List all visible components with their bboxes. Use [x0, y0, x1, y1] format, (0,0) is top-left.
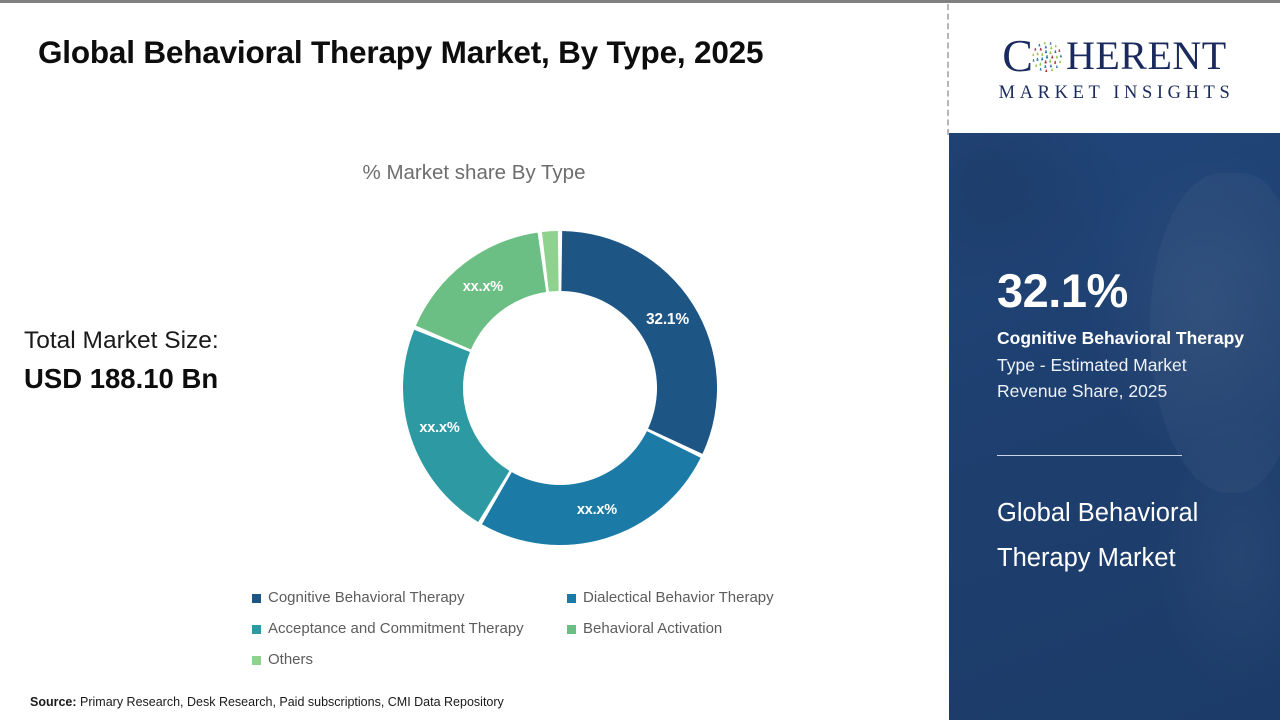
highlight-panel: 32.1% Cognitive Behavioral Therapy Type … [949, 133, 1280, 720]
panel-divider [997, 455, 1182, 456]
logo-tagline: MARKET INSIGHTS [995, 83, 1235, 104]
legend-label: Dialectical Behavior Therapy [583, 589, 774, 606]
legend-item[interactable]: Others [252, 651, 313, 668]
total-market-size-label: Total Market Size: [24, 327, 219, 355]
legend-item[interactable]: Behavioral Activation [567, 620, 722, 637]
legend-label: Acceptance and Commitment Therapy [268, 620, 524, 637]
chart-panel: Global Behavioral Therapy Market, By Typ… [0, 3, 948, 720]
donut-slice-label: 32.1% [646, 311, 689, 329]
legend-row: Cognitive Behavioral TherapyDialectical … [252, 589, 832, 611]
total-market-size-value: USD 188.10 Bn [24, 363, 218, 395]
source-note: Source: Primary Research, Desk Research,… [30, 695, 504, 709]
legend-label: Cognitive Behavioral Therapy [268, 589, 465, 606]
logo-wordmark: C HERENT [1002, 32, 1226, 80]
legend-item[interactable]: Acceptance and Commitment Therapy [252, 620, 567, 637]
chart-subtitle: % Market share By Type [0, 161, 948, 185]
page-title: Global Behavioral Therapy Market, By Typ… [38, 34, 928, 70]
legend-item[interactable]: Dialectical Behavior Therapy [567, 589, 774, 606]
legend-row: Acceptance and Commitment TherapyBehavio… [252, 620, 832, 642]
donut-slice-label: xx.x% [419, 420, 459, 436]
source-label: Source: [30, 695, 77, 709]
chart-legend: Cognitive Behavioral TherapyDialectical … [252, 589, 832, 682]
legend-label: Others [268, 651, 313, 668]
donut-slices [403, 231, 717, 545]
stat-percentage: 32.1% [997, 267, 1128, 314]
donut-slice-label: xx.x% [531, 218, 571, 234]
donut-slice-label: xx.x% [577, 502, 617, 518]
legend-row: Others [252, 651, 832, 673]
globe-people-icon [1030, 40, 1064, 74]
stat-description-segment: Cognitive Behavioral Therapy [997, 328, 1244, 348]
donut-slice [482, 431, 701, 545]
infographic-canvas: Global Behavioral Therapy Market, By Typ… [0, 0, 1280, 720]
donut-slice [561, 231, 717, 454]
legend-swatch-icon [567, 625, 576, 634]
legend-swatch-icon [252, 625, 261, 634]
legend-swatch-icon [252, 656, 261, 665]
legend-swatch-icon [567, 594, 576, 603]
legend-label: Behavioral Activation [583, 620, 722, 637]
donut-chart-svg [403, 231, 717, 545]
chart-subtitle-text: % Market share By Type [363, 161, 586, 185]
panel-market-heading: Global Behavioral Therapy Market [997, 491, 1247, 582]
donut-slice-label: xx.x% [463, 279, 503, 295]
panel-background-art [949, 133, 1280, 720]
stat-description: Cognitive Behavioral Therapy Type - Esti… [997, 325, 1255, 405]
legend-item[interactable]: Cognitive Behavioral Therapy [252, 589, 567, 606]
donut-chart: 32.1%xx.x%xx.x%xx.x%xx.x% [403, 231, 717, 545]
source-text: Primary Research, Desk Research, Paid su… [77, 695, 504, 709]
logo-letter-c: C [1002, 33, 1032, 79]
logo-wordmark-rest: HERENT [1066, 36, 1227, 76]
stat-description-rest: Type - Estimated Market Revenue Share, 2… [997, 355, 1187, 402]
brand-logo: C HERENT MARKET INSIGHTS [949, 3, 1280, 133]
legend-swatch-icon [252, 594, 261, 603]
